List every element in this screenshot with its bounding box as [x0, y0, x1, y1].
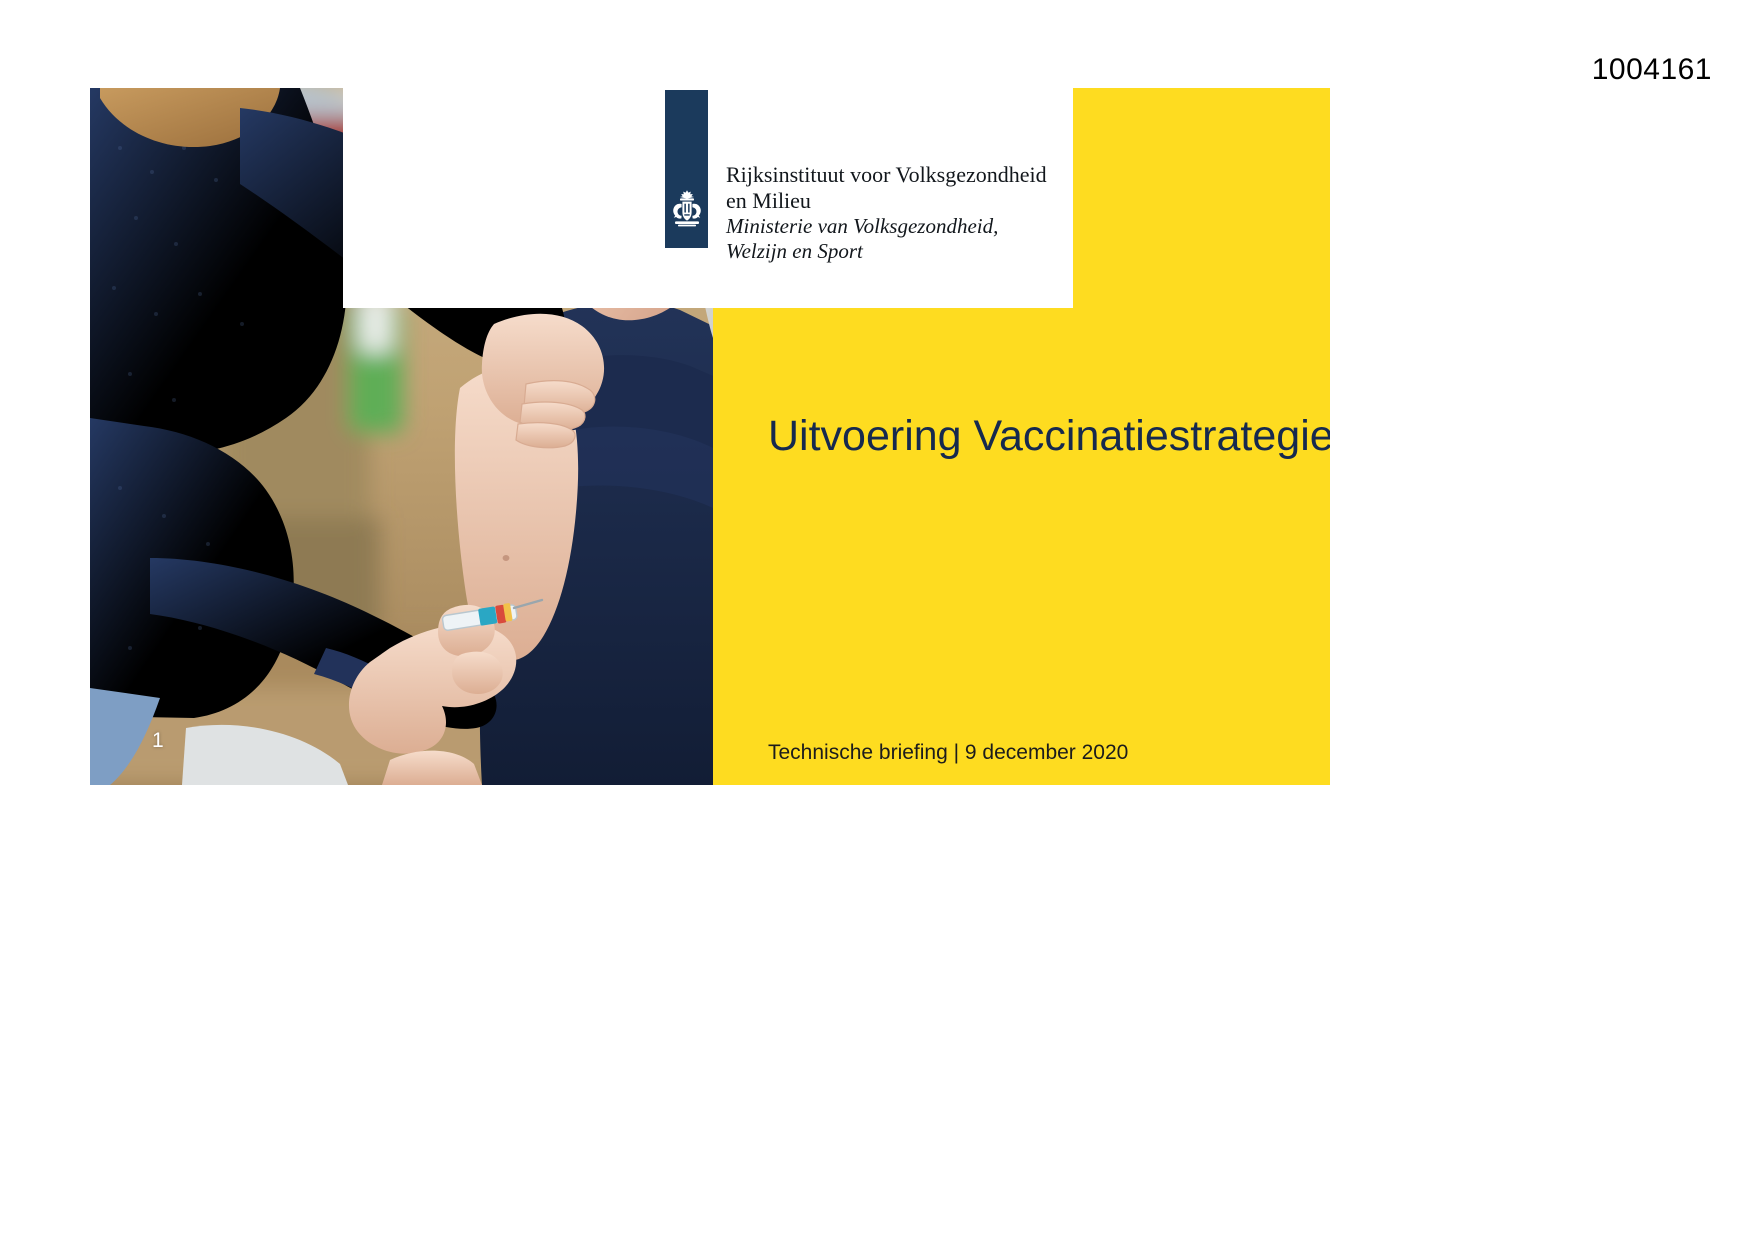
page-number: 1 [152, 729, 164, 753]
slide-canvas: 1 Uitvoering Vaccinatiestrategie Technis… [90, 88, 1330, 785]
logo-box: Rijksinstituut voor Volksgezondheid en M… [343, 88, 1073, 308]
dutch-coat-of-arms-icon [669, 188, 705, 230]
logo-text-block: Rijksinstituut voor Volksgezondheid en M… [726, 90, 1047, 264]
logo-organisation-line-1: Rijksinstituut voor Volksgezondheid [726, 162, 1047, 188]
logo-organisation-line-2: en Milieu [726, 188, 1047, 214]
logo-navy-bar [665, 90, 708, 248]
logo-ministry-line-1: Ministerie van Volksgezondheid, [726, 214, 1047, 239]
rivm-logo: Rijksinstituut voor Volksgezondheid en M… [665, 90, 1047, 264]
logo-ministry-line-2: Welzijn en Sport [726, 239, 1047, 264]
document-identifier: 1004161 [1592, 52, 1712, 88]
slide-footer: Technische briefing | 9 december 2020 [768, 740, 1128, 766]
slide-title: Uitvoering Vaccinatiestrategie [768, 410, 1330, 462]
